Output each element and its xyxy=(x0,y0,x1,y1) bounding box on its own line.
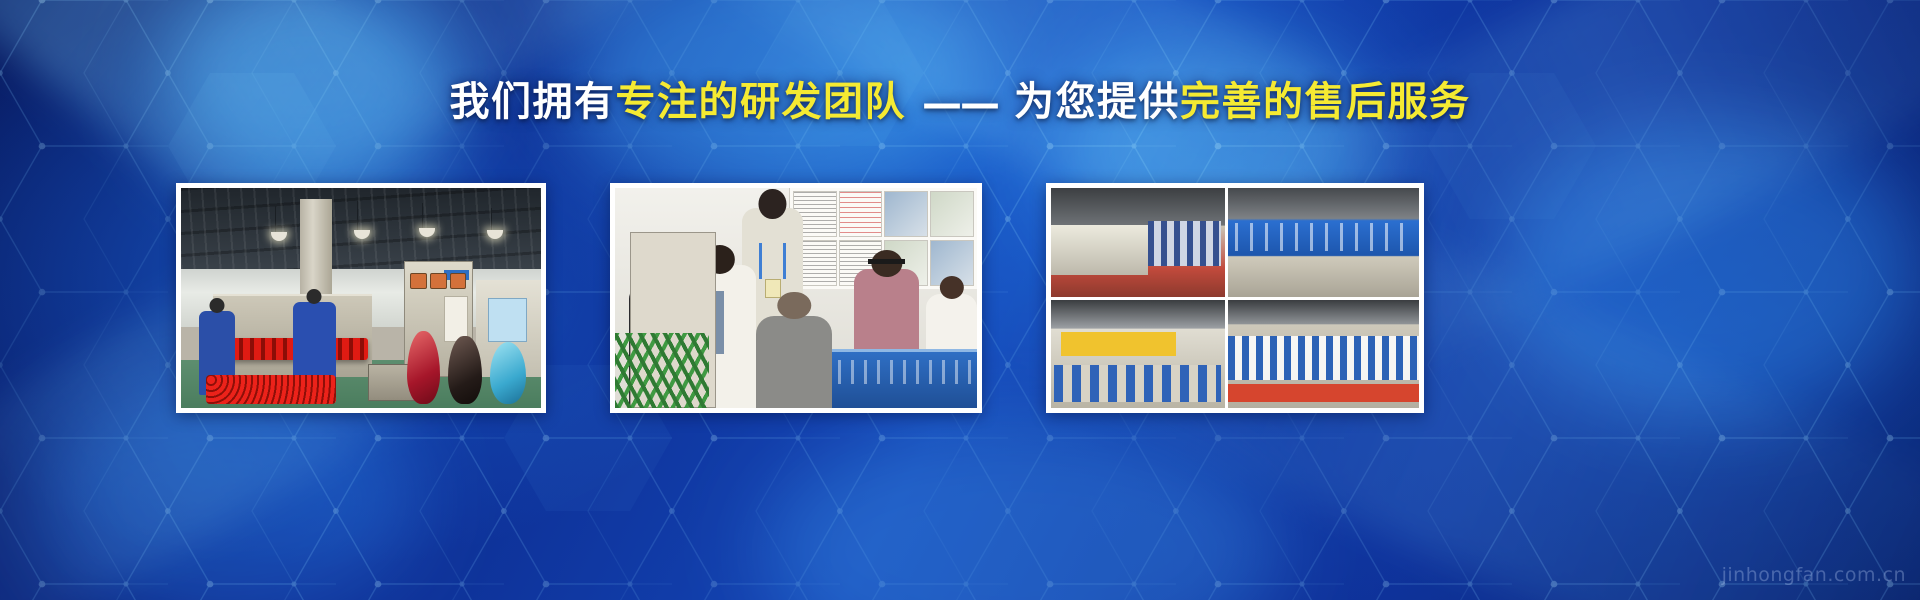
factory-production-photo xyxy=(181,188,541,408)
workshop-shot-drying-oven xyxy=(1051,188,1225,297)
poster-cell xyxy=(839,191,883,237)
potted-plant xyxy=(615,333,709,408)
workshop-shot-hanger-chain xyxy=(1228,300,1419,409)
black-vase xyxy=(448,336,482,404)
panel-production-line xyxy=(176,183,546,413)
site-watermark: jinhongfan.com.cn xyxy=(1722,564,1906,586)
panel-rd-meeting xyxy=(610,183,982,413)
worker-head xyxy=(307,289,322,304)
headline-segment-accent-2: 完善的售后服务 xyxy=(1180,79,1471,125)
banner-headline: 我们拥有专注的研发团队——为您提供完善的售后服务 xyxy=(450,82,1471,124)
panel-rd-meeting-image xyxy=(615,188,977,408)
eyeglasses xyxy=(868,259,904,264)
panel-production-line-image xyxy=(181,188,541,408)
headline-segment-plain-2: 为您提供 xyxy=(1014,79,1180,125)
headline-segment-accent-1: 专注的研发团队 xyxy=(616,79,907,125)
cabinet-dial-row xyxy=(410,273,466,289)
lamp-stem xyxy=(357,201,358,230)
cabinet-dial xyxy=(450,273,466,289)
glass-vase-group xyxy=(404,324,534,403)
lamp-stem xyxy=(422,203,423,227)
workshop-collage xyxy=(1051,188,1419,408)
poster-cell xyxy=(930,191,974,237)
poster-column xyxy=(930,191,974,286)
panel-workshop-grid xyxy=(1046,183,1424,413)
lamp-stem xyxy=(491,208,492,230)
glow-spot xyxy=(760,420,1280,600)
person-head xyxy=(871,250,902,277)
workshop-shot-blue-pipeline xyxy=(1228,188,1419,297)
rd-meeting-photo xyxy=(615,188,977,408)
blue-machine-model xyxy=(832,349,977,408)
worker-head xyxy=(210,298,225,313)
person-head xyxy=(777,292,810,320)
tie xyxy=(716,291,724,354)
lanyard xyxy=(759,243,786,278)
back-facing-person xyxy=(756,316,832,408)
headline-em-dash: —— xyxy=(922,84,998,124)
person-head xyxy=(940,276,964,299)
person-head xyxy=(759,189,786,219)
red-product-pile xyxy=(206,375,336,404)
banner-root: 我们拥有专注的研发团队——为您提供完善的售后服务 xyxy=(0,0,1920,600)
id-badge xyxy=(765,279,781,298)
cabinet-dial xyxy=(410,273,426,289)
headline-container: 我们拥有专注的研发团队——为您提供完善的售后服务 xyxy=(0,82,1920,124)
blue-vase xyxy=(490,342,526,404)
photo-panel-group xyxy=(0,183,1920,415)
poster-cell xyxy=(884,191,928,237)
workshop-shot-conveyor-line xyxy=(1051,300,1225,409)
panel-workshop-grid-image xyxy=(1051,188,1419,408)
cabinet-dial xyxy=(430,273,446,289)
headline-segment-plain-1: 我们拥有 xyxy=(450,79,616,125)
red-vase xyxy=(407,331,441,404)
lamp-stem xyxy=(275,206,276,232)
